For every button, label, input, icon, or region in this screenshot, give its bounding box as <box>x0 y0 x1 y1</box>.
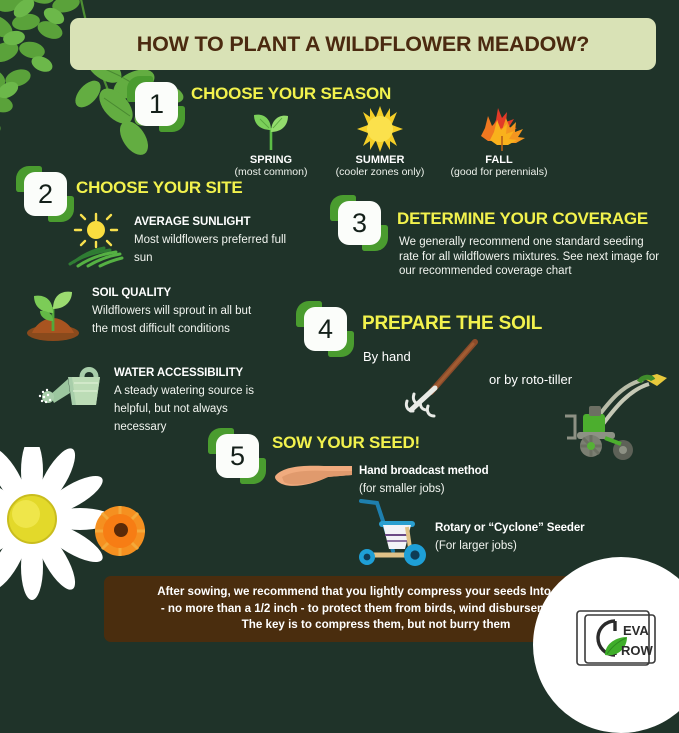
hand-broadcast-caption: Hand broadcast method (for smaller jobs) <box>359 461 489 497</box>
rotary-seeder-caption: Rotary or “Cyclone” Seeder (For larger j… <box>435 518 585 554</box>
step-heading-1: CHOOSE YOUR SEASON <box>191 84 391 104</box>
maple-leaf-icon <box>441 108 557 152</box>
step-heading-4: PREPARE THE SOIL <box>362 313 542 335</box>
open-hand-icon <box>272 459 356 493</box>
step-badge-5: 5 <box>212 431 262 481</box>
step-number: 4 <box>304 307 347 351</box>
method-title: Hand broadcast method <box>359 465 489 477</box>
step-number: 5 <box>216 434 259 478</box>
season-name: SUMMER <box>322 154 438 166</box>
feature-body: A steady watering source is helpful, but… <box>114 385 254 433</box>
feature-soil-quality: SOIL QUALITY Wildflowers will sprout in … <box>22 283 252 346</box>
season-fall: FALL (good for perennials) <box>441 108 557 178</box>
feature-water-accessibility: WATER ACCESSIBILITY A steady watering so… <box>38 363 268 435</box>
step-heading-3: DETERMINE YOUR COVERAGE <box>397 209 648 229</box>
footer-line-3: The key is to compress them, but not bur… <box>242 617 511 633</box>
feature-title: SOIL QUALITY <box>92 287 171 299</box>
season-note: (cooler zones only) <box>322 166 438 178</box>
season-name: SPRING <box>213 154 329 166</box>
logo-bottom-text: ROW <box>621 643 654 658</box>
feature-title: WATER ACCESSIBILITY <box>114 367 243 379</box>
page-title: HOW TO PLANT A WILDFLOWER MEADOW? <box>137 32 589 57</box>
step-body-3: We generally recommend one standard seed… <box>399 235 661 279</box>
logo-top-text: EVA <box>623 623 649 638</box>
step-heading-2: CHOOSE YOUR SITE <box>76 178 243 198</box>
geva-grow-logo: EVA ROW <box>571 607 663 669</box>
rotary-seeder-icon <box>347 495 437 567</box>
method-note: (for smaller jobs) <box>359 483 445 495</box>
feature-title: AVERAGE SUNLIGHT <box>134 216 250 228</box>
feature-body: Wildflowers will sprout in all but the m… <box>92 305 251 335</box>
garden-rake-icon <box>395 338 485 426</box>
season-note: (most common) <box>213 166 329 178</box>
method-note: (For larger jobs) <box>435 540 517 552</box>
seedling-in-soil-icon <box>22 283 84 346</box>
footer-line-1: After sowing, we recommend that you ligh… <box>157 584 594 600</box>
step-badge-3: 3 <box>334 198 384 248</box>
sprout-icon <box>213 108 329 152</box>
season-spring: SPRING (most common) <box>213 108 329 178</box>
watering-can-icon <box>38 363 106 435</box>
step-heading-5: SOW YOUR SEED! <box>272 433 420 453</box>
feature-average-sunlight: AVERAGE SUNLIGHT Most wildflowers prefer… <box>68 212 298 273</box>
step-badge-4: 4 <box>300 304 350 354</box>
footer-line-2: - no more than a 1/2 inch - to protect t… <box>161 601 591 617</box>
method-title: Rotary or “Cyclone” Seeder <box>435 522 585 534</box>
infographic-title-bar: HOW TO PLANT A WILDFLOWER MEADOW? <box>70 18 656 70</box>
season-name: FALL <box>441 154 557 166</box>
sun-icon <box>322 108 438 152</box>
step-number: 1 <box>135 82 178 126</box>
season-note: (good for perennials) <box>441 166 557 178</box>
sun-over-field-icon <box>68 212 126 273</box>
step-badge-2: 2 <box>20 169 70 219</box>
feature-body: Most wildflowers preferred full sun <box>134 234 286 264</box>
step-number: 3 <box>338 201 381 245</box>
infographic-canvas: HOW TO PLANT A WILDFLOWER MEADOW? 1 CHOO… <box>0 0 679 679</box>
step-number: 2 <box>24 172 67 216</box>
season-summer: SUMMER (cooler zones only) <box>322 108 438 178</box>
step-badge-1: 1 <box>131 79 181 129</box>
roto-tiller-icon <box>547 368 675 464</box>
